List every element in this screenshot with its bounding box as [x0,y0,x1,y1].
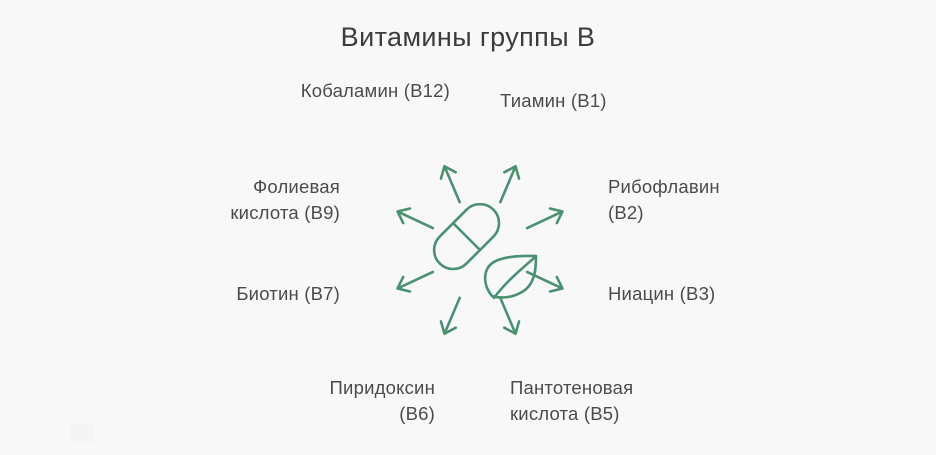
arrow-to-b2 [524,204,566,235]
capsule-leaf-icon [426,196,536,298]
vitamin-label-b6: Пиридоксин (В6) [230,375,435,427]
vitamin-label-b2: Рибофлавин (В2) [608,174,838,226]
radial-arrow-diagram [340,125,620,375]
vitamin-label-b7: Биотин (В7) [150,281,340,307]
background-artifact [70,424,94,442]
arrow-to-b5 [493,295,523,337]
arrow-to-b7 [394,265,436,296]
vitamin-label-b5: Пантотеновая кислота (В5) [510,375,740,427]
arrow-to-b9 [394,204,436,235]
arrow-to-b1 [493,163,523,205]
vitamin-label-b12: Кобаламин (В12) [180,78,450,104]
arrow-to-b12 [437,163,467,205]
vitamin-label-b1: Тиамин (В1) [500,88,760,114]
vitamin-label-b3: Ниацин (В3) [608,281,838,307]
vitamin-b-infographic: Витамины группы В [0,0,936,455]
arrow-to-b3 [524,265,566,296]
arrow-to-b6 [437,295,467,337]
vitamin-label-b9: Фолиевая кислота (В9) [150,174,340,226]
page-title: Витамины группы В [0,22,936,53]
